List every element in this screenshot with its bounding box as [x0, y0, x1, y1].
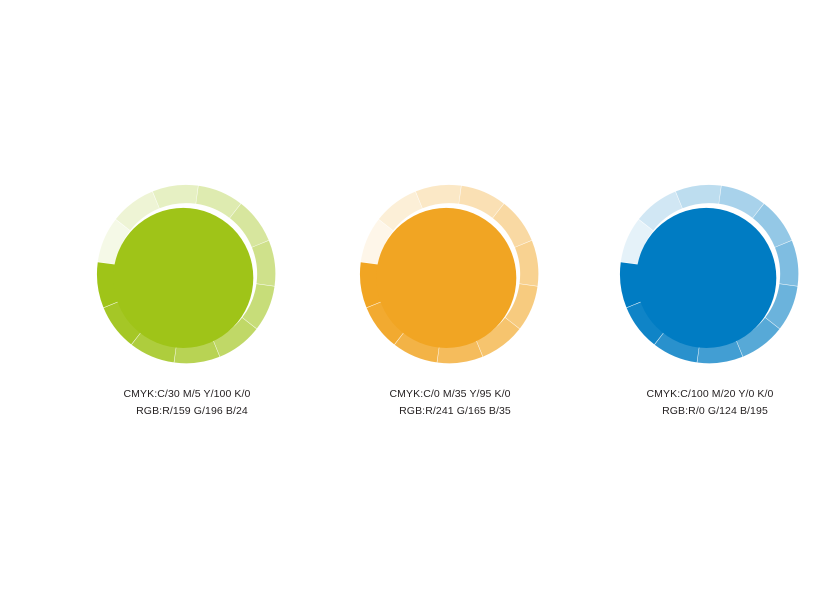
rgb-value-blue: RGB:R/0 G/124 B/195: [613, 403, 813, 420]
color-wheel-green: [96, 178, 284, 374]
wheel-core-disc: [636, 208, 776, 348]
wheel-core-disc: [376, 208, 516, 348]
palette-board: CMYK:C/30 M/5 Y/100 K/0RGB:R/159 G/196 B…: [0, 0, 838, 597]
wheel-segment-6: [515, 241, 538, 286]
wheel-segment-6: [252, 241, 275, 286]
blue-swatch: CMYK:C/100 M/20 Y/0 K/0RGB:R/0 G/124 B/1…: [613, 178, 813, 438]
wheel-core-disc: [113, 208, 253, 348]
wheel-segment-6: [775, 241, 798, 286]
rgb-value-orange: RGB:R/241 G/165 B/35: [353, 403, 553, 420]
wheel-segment-3: [416, 185, 461, 208]
swatch-caption-blue: CMYK:C/100 M/20 Y/0 K/0RGB:R/0 G/124 B/1…: [613, 386, 813, 420]
green-swatch: CMYK:C/30 M/5 Y/100 K/0RGB:R/159 G/196 B…: [90, 178, 290, 438]
orange-swatch: CMYK:C/0 M/35 Y/95 K/0RGB:R/241 G/165 B/…: [353, 178, 553, 438]
cmyk-value-green: CMYK:C/30 M/5 Y/100 K/0: [90, 386, 290, 403]
cmyk-value-blue: CMYK:C/100 M/20 Y/0 K/0: [613, 386, 813, 403]
wheel-segment-3: [676, 185, 721, 208]
color-wheel-orange: [359, 178, 547, 374]
swatch-caption-green: CMYK:C/30 M/5 Y/100 K/0RGB:R/159 G/196 B…: [90, 386, 290, 420]
wheel-segment-3: [153, 185, 198, 208]
rgb-value-green: RGB:R/159 G/196 B/24: [90, 403, 290, 420]
color-wheel-blue: [619, 178, 807, 374]
cmyk-value-orange: CMYK:C/0 M/35 Y/95 K/0: [353, 386, 553, 403]
swatch-caption-orange: CMYK:C/0 M/35 Y/95 K/0RGB:R/241 G/165 B/…: [353, 386, 553, 420]
